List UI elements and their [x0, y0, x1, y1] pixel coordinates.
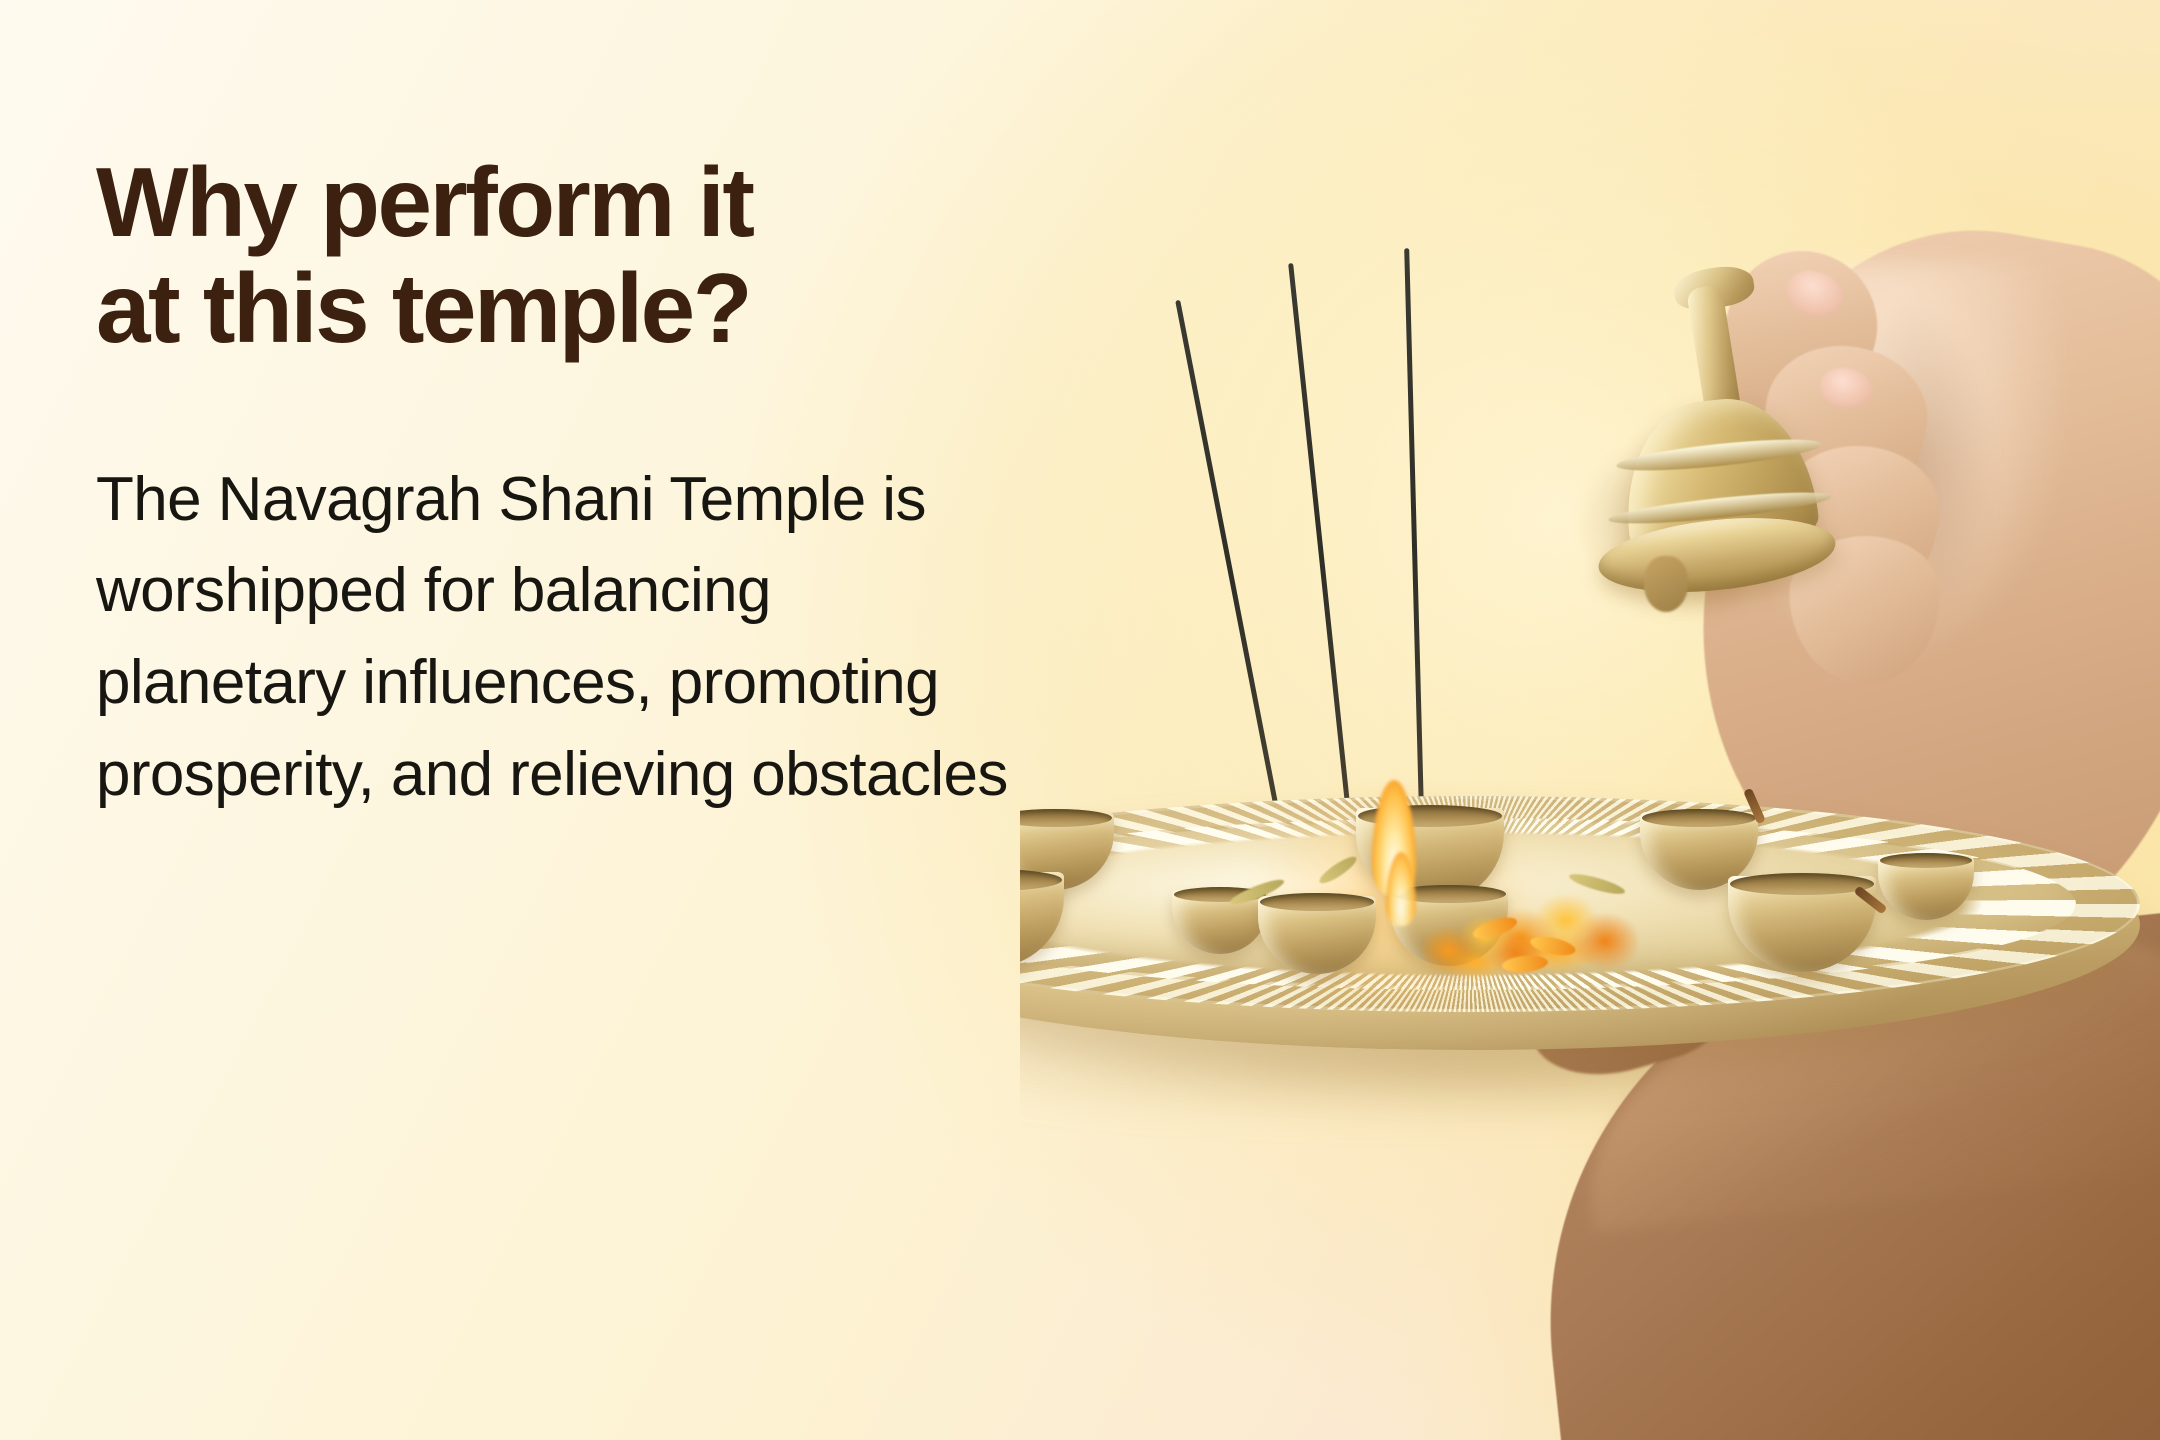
puja-thali-photo: [1020, 0, 2160, 1440]
text-panel: Why perform it at this temple? The Navag…: [96, 150, 1096, 821]
slide-canvas: Why perform it at this temple? The Navag…: [0, 0, 2160, 1440]
page-title: Why perform it at this temple?: [96, 150, 1096, 362]
bell-clapper: [1644, 556, 1688, 612]
body-description: The Navagrah Shani Temple is worshipped …: [96, 454, 1036, 821]
brass-thali: [1020, 760, 2160, 1160]
